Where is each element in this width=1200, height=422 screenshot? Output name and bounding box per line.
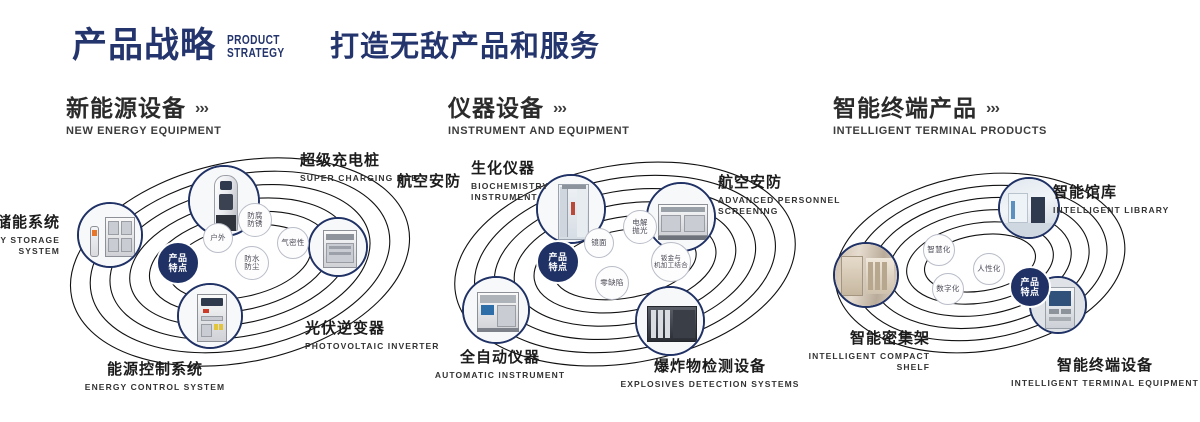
feature-bubble-airtight[interactable]: 气密性 xyxy=(277,227,309,259)
core-bubble-line1: 产品 xyxy=(548,252,567,262)
page-title-en: PRODUCT STRATEGY xyxy=(227,33,285,59)
product-node-smart-library[interactable] xyxy=(998,177,1060,239)
section-title-cn-intelligent-terminal: 智能终端产品 xyxy=(833,95,977,121)
product-label-cn: 全自动仪器 xyxy=(425,349,575,368)
core-bubble-line1: 产品 xyxy=(1020,277,1039,287)
feature-bubble-mirror[interactable]: 镜面 xyxy=(584,228,614,258)
feature-bubble-line1: 零缺陷 xyxy=(600,279,623,287)
feature-bubble-line1: 智慧化 xyxy=(927,246,950,254)
product-label-en: INTELLIGENT TERMINAL EQUIPMENT xyxy=(1010,378,1200,389)
section-title-en-new-energy: NEW ENERGY EQUIPMENT xyxy=(66,125,221,137)
chevron-right-icon: ››› xyxy=(195,96,208,122)
feature-bubble-electropolish[interactable]: 电解 抛光 xyxy=(623,210,657,244)
product-label-automatic-instrument: 全自动仪器 AUTOMATIC INSTRUMENT xyxy=(425,349,575,381)
feature-bubble-line1: 人性化 xyxy=(977,265,1000,273)
page-title: 产品战略 PRODUCT STRATEGY xyxy=(72,28,301,63)
section-title-cn-instrument: 仪器设备 xyxy=(448,95,544,121)
product-label-en: ENERGY CONTROL SYSTEM xyxy=(60,382,250,393)
infographic-canvas: 产品战略 PRODUCT STRATEGY 打造无敌产品和服务 新能源设备 ››… xyxy=(0,0,1200,422)
chevron-right-icon: ››› xyxy=(553,96,566,122)
product-node-pv-inverter[interactable] xyxy=(308,217,368,277)
page-slogan: 打造无敌产品和服务 xyxy=(330,32,600,64)
feature-bubble-anticorrosion[interactable]: 防腐 防锈 xyxy=(238,203,272,237)
product-label-compact-shelf: 智能密集架 INTELLIGENT COMPACT SHELF xyxy=(790,330,930,374)
product-node-screening-machine[interactable] xyxy=(646,182,716,252)
product-label-explosives-detector: 爆炸物检测设备 EXPLOSIVES DETECTION SYSTEMS xyxy=(610,358,810,390)
product-label-en: INTELLIGENT LIBRARY xyxy=(1053,205,1200,216)
product-label-aviation-security-left: 航空安防 xyxy=(381,173,461,192)
core-bubble-line1: 产品 xyxy=(168,253,187,263)
core-bubble-instrument[interactable]: 产品 特点 xyxy=(538,242,578,282)
core-bubble-intelligent-terminal[interactable]: 产品 特点 xyxy=(1011,268,1049,306)
core-bubble-line2: 特点 xyxy=(1020,287,1039,297)
section-header-instrument: 仪器设备 ››› INSTRUMENT AND EQUIPMENT xyxy=(448,95,629,137)
core-bubble-line2: 特点 xyxy=(548,262,567,272)
product-node-compact-shelf[interactable] xyxy=(833,242,899,308)
feature-bubble-digital[interactable]: 数字化 xyxy=(932,273,964,305)
feature-bubble-sheetmetal-machining[interactable]: 钣金与 机加工结合 xyxy=(651,242,691,282)
product-node-energy-control[interactable] xyxy=(177,283,243,349)
product-label-cn: 爆炸物检测设备 xyxy=(610,358,810,377)
product-label-biochem-instrument: 生化仪器 BIOCHEMISTRY INSTRUMENT xyxy=(471,160,601,204)
feature-bubble-humanized[interactable]: 人性化 xyxy=(973,253,1005,285)
page-title-en-line2: STRATEGY xyxy=(227,46,285,59)
section-header-new-energy: 新能源设备 ››› NEW ENERGY EQUIPMENT xyxy=(66,95,221,137)
product-node-automatic-instrument[interactable] xyxy=(462,276,530,344)
feature-bubble-line2: 抛光 xyxy=(632,227,648,235)
product-label-cn: 储能系统 xyxy=(0,214,60,233)
product-label-terminal-kiosk: 智能终端设备 INTELLIGENT TERMINAL EQUIPMENT xyxy=(1010,357,1200,389)
product-label-cn: 智能终端设备 xyxy=(1010,357,1200,376)
product-label-cn: 智能馆库 xyxy=(1053,184,1200,203)
product-label-en: AUTOMATIC INSTRUMENT xyxy=(425,370,575,381)
section-header-intelligent-terminal: 智能终端产品 ››› INTELLIGENT TERMINAL PRODUCTS xyxy=(833,95,1047,137)
chevron-right-icon: ››› xyxy=(986,96,999,122)
feature-bubble-line1: 钣金与 xyxy=(661,255,681,262)
feature-bubble-smart[interactable]: 智慧化 xyxy=(923,234,955,266)
product-label-cn: 航空安防 xyxy=(381,173,461,192)
feature-bubble-line1: 镜面 xyxy=(591,239,607,247)
feature-bubble-line1: 数字化 xyxy=(936,285,959,293)
section-title-cn-new-energy: 新能源设备 xyxy=(66,95,186,121)
feature-bubble-line1: 气密性 xyxy=(281,239,304,247)
product-label-cn: 能源控制系统 xyxy=(60,361,250,380)
product-label-smart-library: 智能馆库 INTELLIGENT LIBRARY xyxy=(1053,184,1200,216)
feature-bubble-line1: 户外 xyxy=(210,234,226,242)
feature-bubble-zero-defect[interactable]: 零缺陷 xyxy=(595,266,629,300)
feature-bubble-line2: 防锈 xyxy=(247,220,263,228)
feature-bubble-outdoor[interactable]: 户外 xyxy=(203,223,233,253)
feature-bubble-waterproof[interactable]: 防水 防尘 xyxy=(235,246,269,280)
product-label-en: BIOCHEMISTRY INSTRUMENT xyxy=(471,181,601,204)
core-bubble-new-energy[interactable]: 产品 特点 xyxy=(158,243,198,283)
product-label-energy-storage: 储能系统 ENERGY STORAGE SYSTEM xyxy=(0,214,60,258)
core-bubble-line2: 特点 xyxy=(168,263,187,273)
section-title-en-instrument: INSTRUMENT AND EQUIPMENT xyxy=(448,125,629,137)
product-label-en: EXPLOSIVES DETECTION SYSTEMS xyxy=(610,379,810,390)
product-label-cn: 生化仪器 xyxy=(471,160,601,179)
product-label-cn: 超级充电桩 xyxy=(300,152,460,171)
page-title-cn: 产品战略 xyxy=(72,28,216,63)
product-label-cn: 智能密集架 xyxy=(790,330,930,349)
feature-bubble-line2: 防尘 xyxy=(244,263,260,271)
product-label-energy-control: 能源控制系统 ENERGY CONTROL SYSTEM xyxy=(60,361,250,393)
product-node-energy-storage[interactable] xyxy=(77,202,143,268)
product-label-en: ENERGY STORAGE SYSTEM xyxy=(0,235,60,258)
feature-bubble-line2: 机加工结合 xyxy=(654,262,688,269)
product-label-en: INTELLIGENT COMPACT SHELF xyxy=(790,351,930,374)
product-node-explosives-detector[interactable] xyxy=(635,286,705,356)
section-title-en-intelligent-terminal: INTELLIGENT TERMINAL PRODUCTS xyxy=(833,125,1047,137)
